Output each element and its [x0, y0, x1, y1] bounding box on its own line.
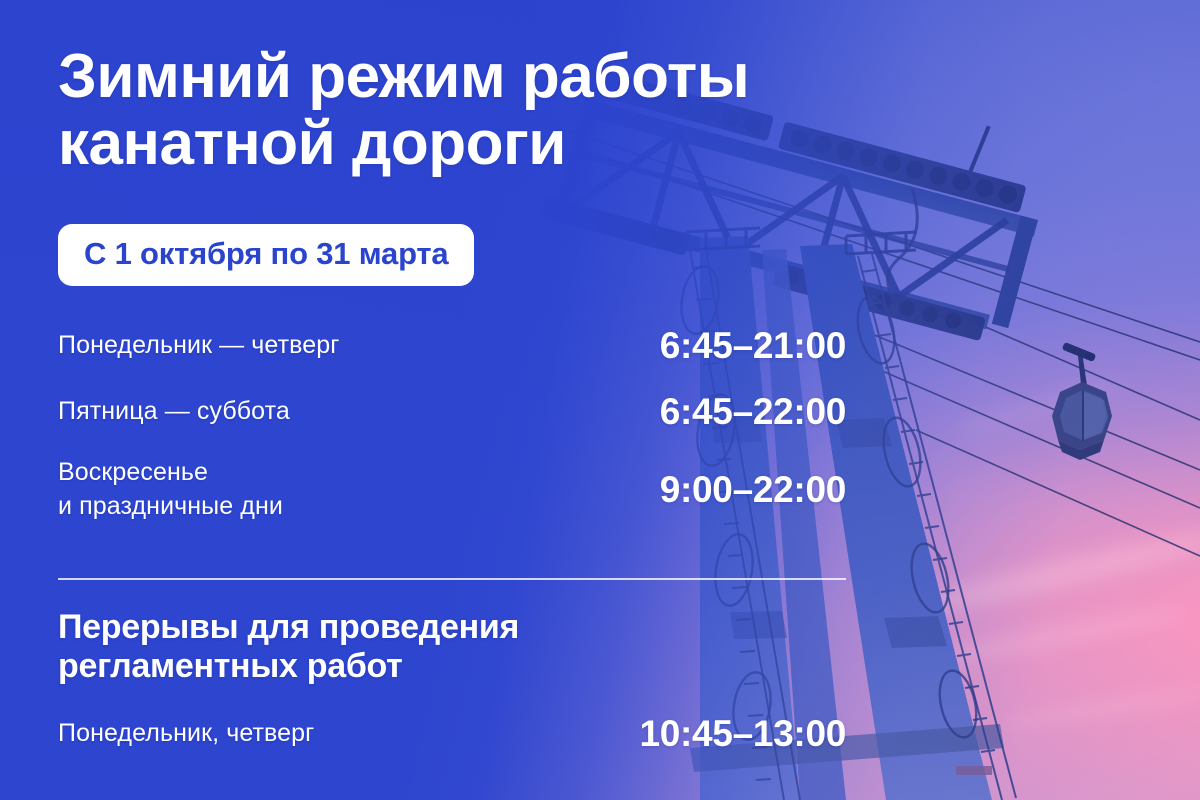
- maintenance-title-line-2: регламентных работ: [58, 647, 846, 686]
- schedule-row-time: 6:45–22:00: [660, 391, 846, 433]
- schedule-row-days: Понедельник — четверг: [58, 329, 339, 363]
- schedule-row-time: 6:45–21:00: [660, 325, 846, 367]
- days-label: Понедельник — четверг: [58, 329, 339, 363]
- maintenance-days: Понедельник, четверг: [58, 719, 314, 748]
- schedule-row-time: 9:00–22:00: [660, 469, 846, 511]
- days-label: Воскресенье: [58, 456, 283, 490]
- maintenance-time: 10:45–13:00: [639, 713, 846, 755]
- schedule-row-days: Воскресенье и праздничные дни: [58, 456, 283, 523]
- poster-content: Зимний режим работы канатной дороги С 1 …: [0, 0, 1200, 800]
- poster-root: Зимний режим работы канатной дороги С 1 …: [0, 0, 1200, 800]
- title-line-2: канатной дороги: [58, 111, 878, 178]
- days-label: Пятница — суббота: [58, 395, 290, 429]
- schedule-row: Пятница — суббота 6:45–22:00: [58, 384, 846, 440]
- maintenance-section: Перерывы для проведения регламентных раб…: [58, 608, 846, 755]
- page-title: Зимний режим работы канатной дороги: [58, 44, 878, 178]
- schedule-row: Понедельник — четверг 6:45–21:00: [58, 318, 846, 374]
- maintenance-title: Перерывы для проведения регламентных раб…: [58, 608, 846, 687]
- maintenance-row: Понедельник, четверг 10:45–13:00: [58, 713, 846, 755]
- schedule-row: Воскресенье и праздничные дни 9:00–22:00: [58, 456, 846, 523]
- schedule-table: Понедельник — четверг 6:45–21:00 Пятница…: [58, 318, 846, 533]
- title-line-1: Зимний режим работы: [58, 42, 749, 111]
- section-divider: [58, 578, 846, 580]
- period-badge: С 1 октября по 31 марта: [58, 224, 474, 286]
- days-label-second: и праздничные дни: [58, 490, 283, 524]
- schedule-row-days: Пятница — суббота: [58, 395, 290, 429]
- maintenance-title-line-1: Перерывы для проведения: [58, 608, 846, 647]
